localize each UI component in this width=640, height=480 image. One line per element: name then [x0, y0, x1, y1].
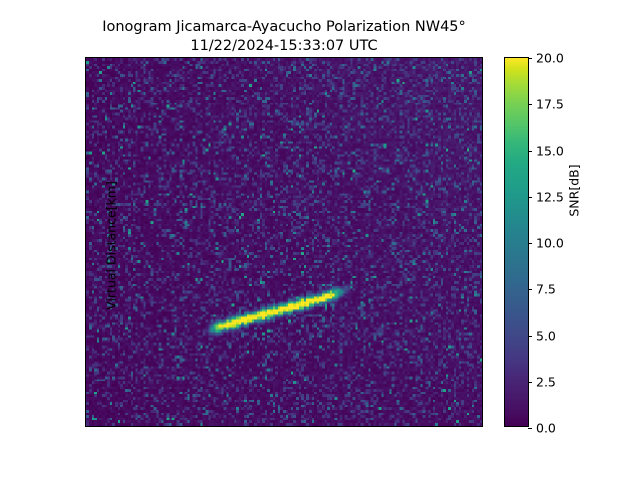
colorbar-label: SNR[dB]	[567, 131, 582, 251]
colorbar-tick-mark	[528, 336, 532, 337]
x-axis-tick-mark	[123, 426, 124, 427]
colorbar-tick-mark	[528, 243, 532, 244]
x-axis-tick-mark	[212, 426, 213, 427]
y-axis-tick-mark	[85, 120, 86, 121]
x-axis-tick-mark	[480, 426, 481, 427]
colorbar-tick-mark	[528, 151, 532, 152]
colorbar-tick-label: 17.5	[536, 97, 564, 112]
colorbar-tick-label: 5.0	[536, 328, 556, 343]
title-line-2: 11/22/2024-15:33:07 UTC	[0, 37, 568, 56]
colorbar-tick-mark	[528, 104, 532, 105]
x-axis-tick-mark	[390, 426, 391, 427]
x-axis-tick-mark	[346, 426, 347, 427]
colorbar-tick-label: 2.5	[536, 374, 556, 389]
x-axis-tick-mark	[257, 426, 258, 427]
y-axis-tick-label: 0	[85, 421, 86, 428]
y-axis-label: Virtual Distance[km]	[104, 61, 119, 428]
ionogram-figure: Ionogram Jicamarca-Ayacucho Polarization…	[0, 0, 640, 480]
x-axis-tick-mark	[301, 426, 302, 427]
colorbar-tick-mark	[528, 58, 532, 59]
colorbar-tick-mark	[528, 428, 532, 429]
chart-title: Ionogram Jicamarca-Ayacucho Polarization…	[0, 18, 568, 55]
colorbar-tick-label: 7.5	[536, 282, 556, 297]
title-line-1: Ionogram Jicamarca-Ayacucho Polarization…	[0, 18, 568, 37]
y-axis-tick-mark	[85, 243, 86, 244]
y-axis-tick-mark	[85, 58, 86, 59]
colorbar-tick-label: 15.0	[536, 143, 564, 158]
colorbar-tick-label: 10.0	[536, 236, 564, 251]
colorbar-tick-label: 12.5	[536, 189, 564, 204]
colorbar-tick-mark	[528, 289, 532, 290]
y-axis-tick-mark	[85, 366, 86, 367]
x-axis-tick-mark	[167, 426, 168, 427]
y-axis-tick-mark	[85, 181, 86, 182]
ionogram-heatmap	[86, 58, 482, 426]
colorbar-tick-mark	[528, 382, 532, 383]
colorbar[interactable]: SNR[dB] 0.02.55.07.510.012.515.017.520.0	[504, 57, 529, 427]
plot-area[interactable]: Virtual Distance[km]05001000150020002500…	[85, 57, 483, 427]
colorbar-tick-mark	[528, 197, 532, 198]
x-axis-tick-mark	[435, 426, 436, 427]
y-axis-tick-mark	[85, 305, 86, 306]
colorbar-tick-label: 0.0	[536, 421, 556, 436]
colorbar-tick-label: 20.0	[536, 51, 564, 66]
